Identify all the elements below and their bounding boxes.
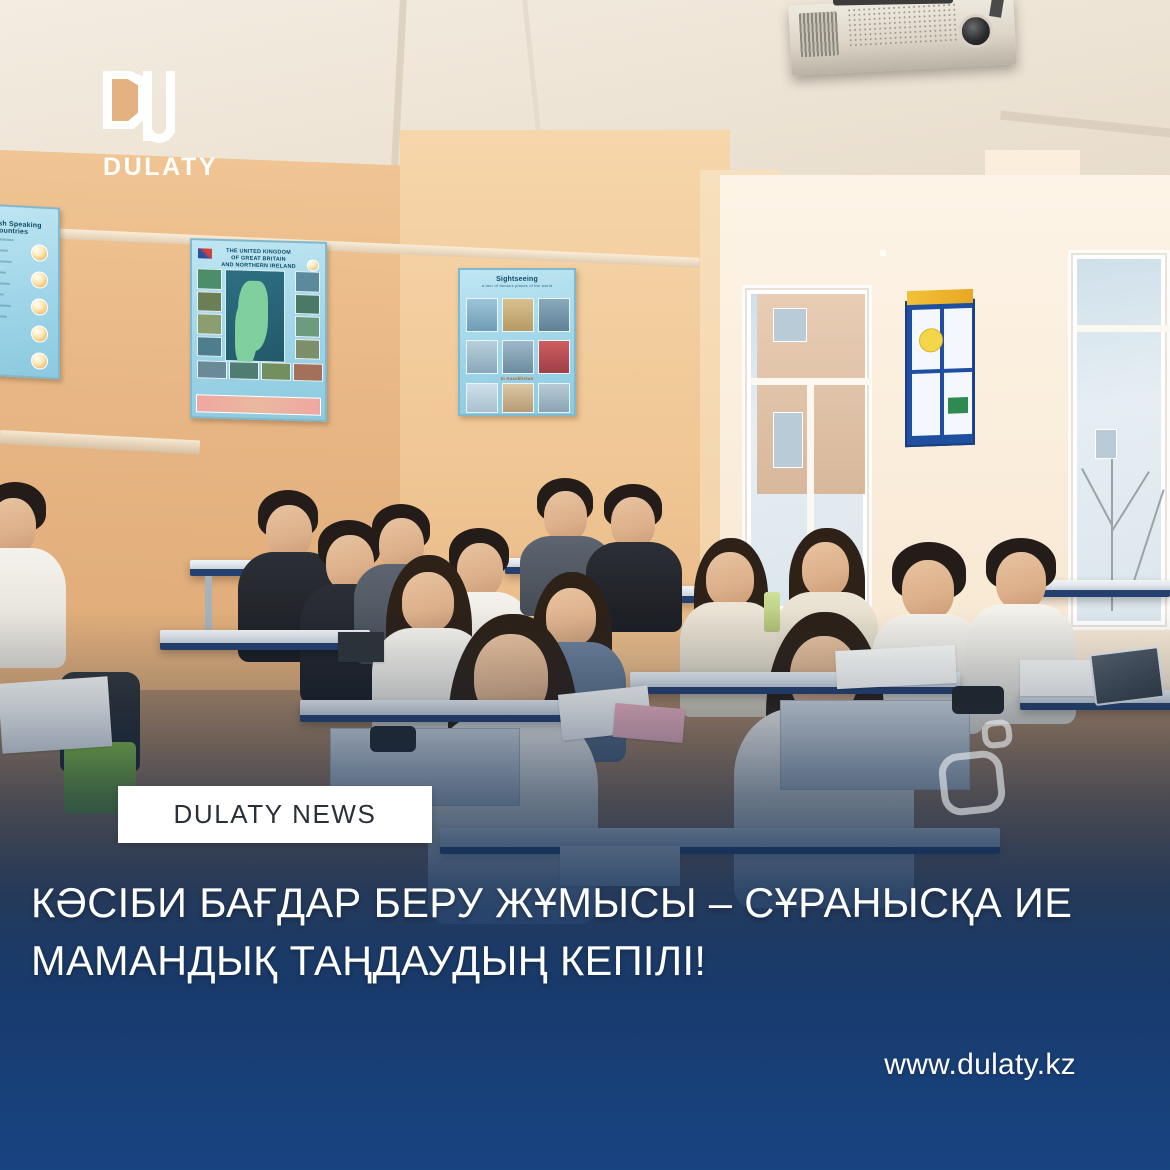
headline: КӘСІБИ БАҒДАР БЕРУ ЖҰМЫСЫ – СҰРАНЫСҚА ИЕ… [31, 874, 1151, 990]
dulaty-monogram-icon [103, 71, 189, 145]
headline-line-2: МАМАНДЫҚ ТАҢДАУДЫҢ КЕПІЛІ! [31, 932, 1151, 990]
news-badge-label: DULATY NEWS [173, 799, 376, 830]
website-url[interactable]: www.dulaty.kz [884, 1048, 1076, 1082]
info-board-header [907, 289, 973, 305]
brand-logo: DULATY [103, 71, 273, 182]
wall-poster-countries: English Speaking Countries [0, 202, 60, 379]
ceiling-projector [788, 0, 1016, 76]
projector-arm [989, 0, 1006, 18]
brand-wordmark: DULATY [103, 153, 273, 182]
window-divider [880, 250, 886, 256]
info-board [905, 299, 975, 447]
wall-poster-sightseeing: Sightseeing a tour of famous places of t… [458, 268, 576, 416]
projector-vent [799, 11, 839, 57]
social-media-news-poster: English Speaking Countries THE UNITED KI… [0, 0, 1170, 1170]
uk-map [225, 269, 285, 363]
projector-lens-icon [958, 13, 994, 49]
projector-grille [847, 2, 959, 48]
news-badge: DULATY NEWS [118, 786, 432, 843]
dulaty-outline-watermark-icon [930, 718, 1030, 818]
window-right [1068, 250, 1170, 630]
wall-poster-united-kingdom: THE UNITED KINGDOMOF GREAT BRITAINAND NO… [190, 238, 327, 422]
headline-line-1: КӘСІБИ БАҒДАР БЕРУ ЖҰМЫСЫ – СҰРАНЫСҚА ИЕ [31, 879, 1072, 926]
